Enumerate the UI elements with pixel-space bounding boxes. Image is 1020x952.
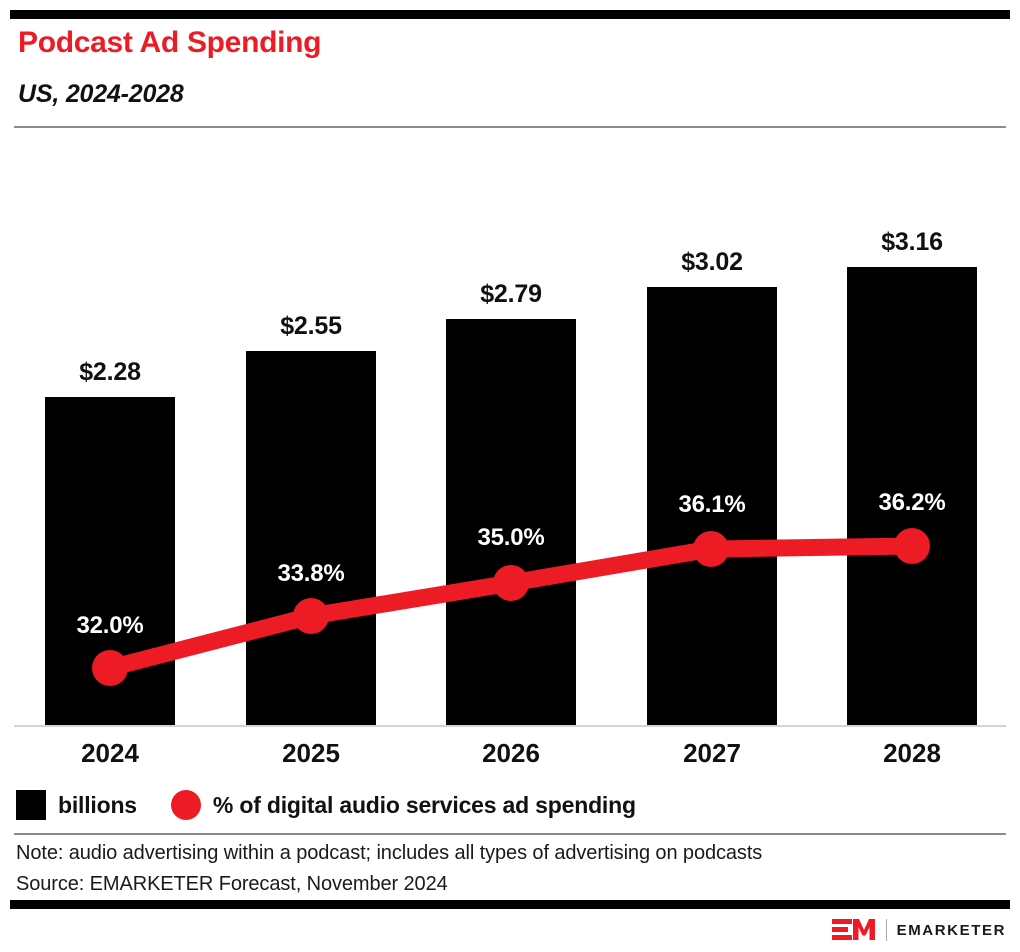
legend-label: billions (58, 792, 137, 819)
chart-figure: Podcast Ad Spending US, 2024-2028 $2.28 … (0, 0, 1020, 952)
bar-2026 (446, 319, 576, 725)
bar-2025 (246, 351, 376, 725)
legend-divider (14, 833, 1006, 835)
x-tick-2028: 2028 (847, 738, 977, 769)
x-tick-2024: 2024 (45, 738, 175, 769)
legend-item-percent: % of digital audio services ad spending (171, 790, 636, 820)
x-axis-line (14, 725, 1006, 727)
square-swatch-icon (16, 790, 46, 820)
percent-value-label: 35.0% (446, 524, 576, 552)
chart-legend: billions % of digital audio services ad … (16, 790, 636, 820)
circle-swatch-icon (171, 790, 201, 820)
x-tick-2026: 2026 (446, 738, 576, 769)
percent-value-label: 33.8% (246, 560, 376, 588)
brand-wordmark: EMARKETER (897, 922, 1006, 939)
bar-2024 (45, 397, 175, 725)
bottom-divider (10, 900, 1010, 909)
legend-label: % of digital audio services ad spending (213, 792, 636, 819)
x-tick-2027: 2027 (647, 738, 777, 769)
legend-item-billions: billions (16, 790, 137, 820)
bar-value-label: $3.02 (647, 248, 777, 277)
bar-value-label: $2.28 (45, 358, 175, 387)
x-tick-2025: 2025 (246, 738, 376, 769)
bar-value-label: $2.55 (246, 312, 376, 341)
bar-value-label: $2.79 (446, 280, 576, 309)
emarketer-logo: EMARKETER (832, 917, 1006, 943)
chart-note: Note: audio advertising within a podcast… (16, 842, 762, 865)
percent-value-label: 36.1% (647, 491, 777, 519)
logo-divider (886, 919, 887, 941)
chart-source: Source: EMARKETER Forecast, November 202… (16, 873, 448, 896)
percent-value-label: 36.2% (847, 489, 977, 517)
em-monogram-icon (832, 917, 876, 943)
percent-value-label: 32.0% (45, 612, 175, 640)
bar-value-label: $3.16 (847, 228, 977, 257)
